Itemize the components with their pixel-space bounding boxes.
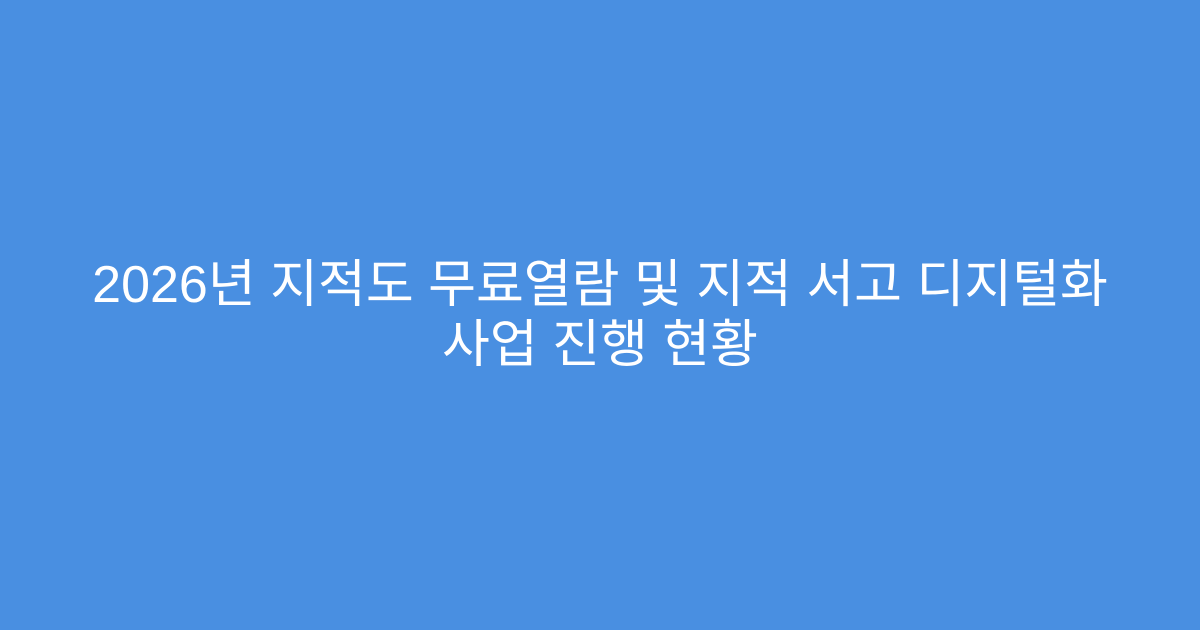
og-card-canvas: 2026년 지적도 무료열람 및 지적 서고 디지털화 사업 진행 현황 [0, 0, 1200, 630]
page-title: 2026년 지적도 무료열람 및 지적 서고 디지털화 사업 진행 현황 [80, 255, 1120, 375]
title-block: 2026년 지적도 무료열람 및 지적 서고 디지털화 사업 진행 현황 [80, 255, 1120, 375]
